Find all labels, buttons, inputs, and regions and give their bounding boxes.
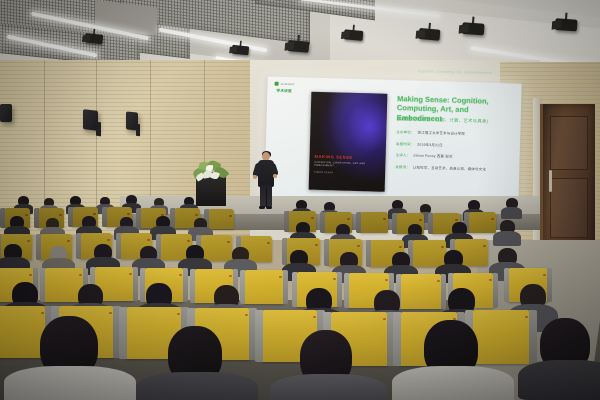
projection-screen: ACADEMY 学术讲座 MAKING SENSE COGNITION, COM… bbox=[264, 76, 521, 208]
door-handle-icon[interactable] bbox=[549, 170, 552, 192]
slide-detail-row: 主办单位： 浙江理工大学艺术与设计学院 bbox=[396, 130, 516, 138]
slide-detail-value: 浙江理工大学艺术与设计学院 bbox=[417, 131, 465, 137]
slide-detail-key: 主讲人： bbox=[396, 153, 411, 158]
slide-logo-text: ACADEMY bbox=[281, 82, 295, 85]
poster-byline: SIMON PENNY bbox=[314, 172, 333, 175]
slide-logo: ACADEMY bbox=[275, 82, 295, 87]
slide-detail-value: 认知科学、互动艺术、具身认知、媒体与文化 bbox=[413, 165, 486, 172]
slide-detail-key: 关键词： bbox=[395, 165, 410, 170]
slide-logo-cn: 学术讲座 bbox=[276, 89, 292, 94]
wall-speaker-bracket bbox=[96, 122, 101, 137]
wall-speaker-bracket bbox=[136, 124, 140, 137]
auditorium-photo: Cognition, Computing, Art, and Embodimen… bbox=[0, 0, 600, 400]
speaker-shoe-left bbox=[259, 206, 265, 209]
poster-subline: COGNITION, COMPUTING, ART AND EMBODIMENT bbox=[314, 161, 380, 169]
auditorium-seat[interactable] bbox=[360, 212, 388, 233]
side-exit-door[interactable] bbox=[540, 104, 595, 250]
speaker-standing bbox=[255, 152, 277, 208]
slide-detail-value: Simon Penny 西蒙·彭尼 bbox=[413, 154, 453, 160]
auditorium-seat[interactable] bbox=[472, 310, 530, 364]
auditorium-seat[interactable] bbox=[468, 212, 496, 233]
slide-detail-value: 2019年3月21日 bbox=[417, 142, 443, 148]
auditorium-seat[interactable] bbox=[412, 240, 446, 267]
speaker-shoe-right bbox=[266, 206, 272, 209]
logo-mark-icon bbox=[275, 82, 279, 86]
slide-detail-row: 讲座时间： 2019年3月21日 bbox=[396, 142, 516, 150]
auditorium-seat[interactable] bbox=[244, 270, 284, 304]
slide-detail-key: 讲座时间： bbox=[396, 142, 414, 148]
slide-detail-row: 主讲人： Simon Penny 西蒙·彭尼 bbox=[396, 153, 516, 161]
door-panel bbox=[550, 116, 588, 170]
speaker-hand-left bbox=[253, 175, 257, 179]
floral-arrangement bbox=[191, 160, 233, 186]
wall-speaker bbox=[0, 104, 12, 122]
slide-detail-row: 关键词： 认知科学、互动艺术、具身认知、媒体与文化 bbox=[395, 165, 515, 173]
door-panel bbox=[550, 178, 588, 238]
speaker-leg-gap bbox=[266, 188, 267, 206]
slide-poster-image: MAKING SENSE COGNITION, COMPUTING, ART A… bbox=[309, 92, 388, 192]
slide-detail-key: 主办单位： bbox=[396, 130, 414, 136]
speaker-hand-right bbox=[273, 174, 277, 178]
auditorium-seat[interactable] bbox=[400, 274, 442, 309]
poster-headline: MAKING SENSE bbox=[315, 154, 353, 160]
auditorium-seat[interactable] bbox=[200, 235, 232, 261]
slide-detail-list: 主办单位： 浙江理工大学艺术与设计学院 讲座时间： 2019年3月21日 主讲人… bbox=[395, 130, 516, 180]
auditorium-seat[interactable] bbox=[208, 209, 234, 229]
